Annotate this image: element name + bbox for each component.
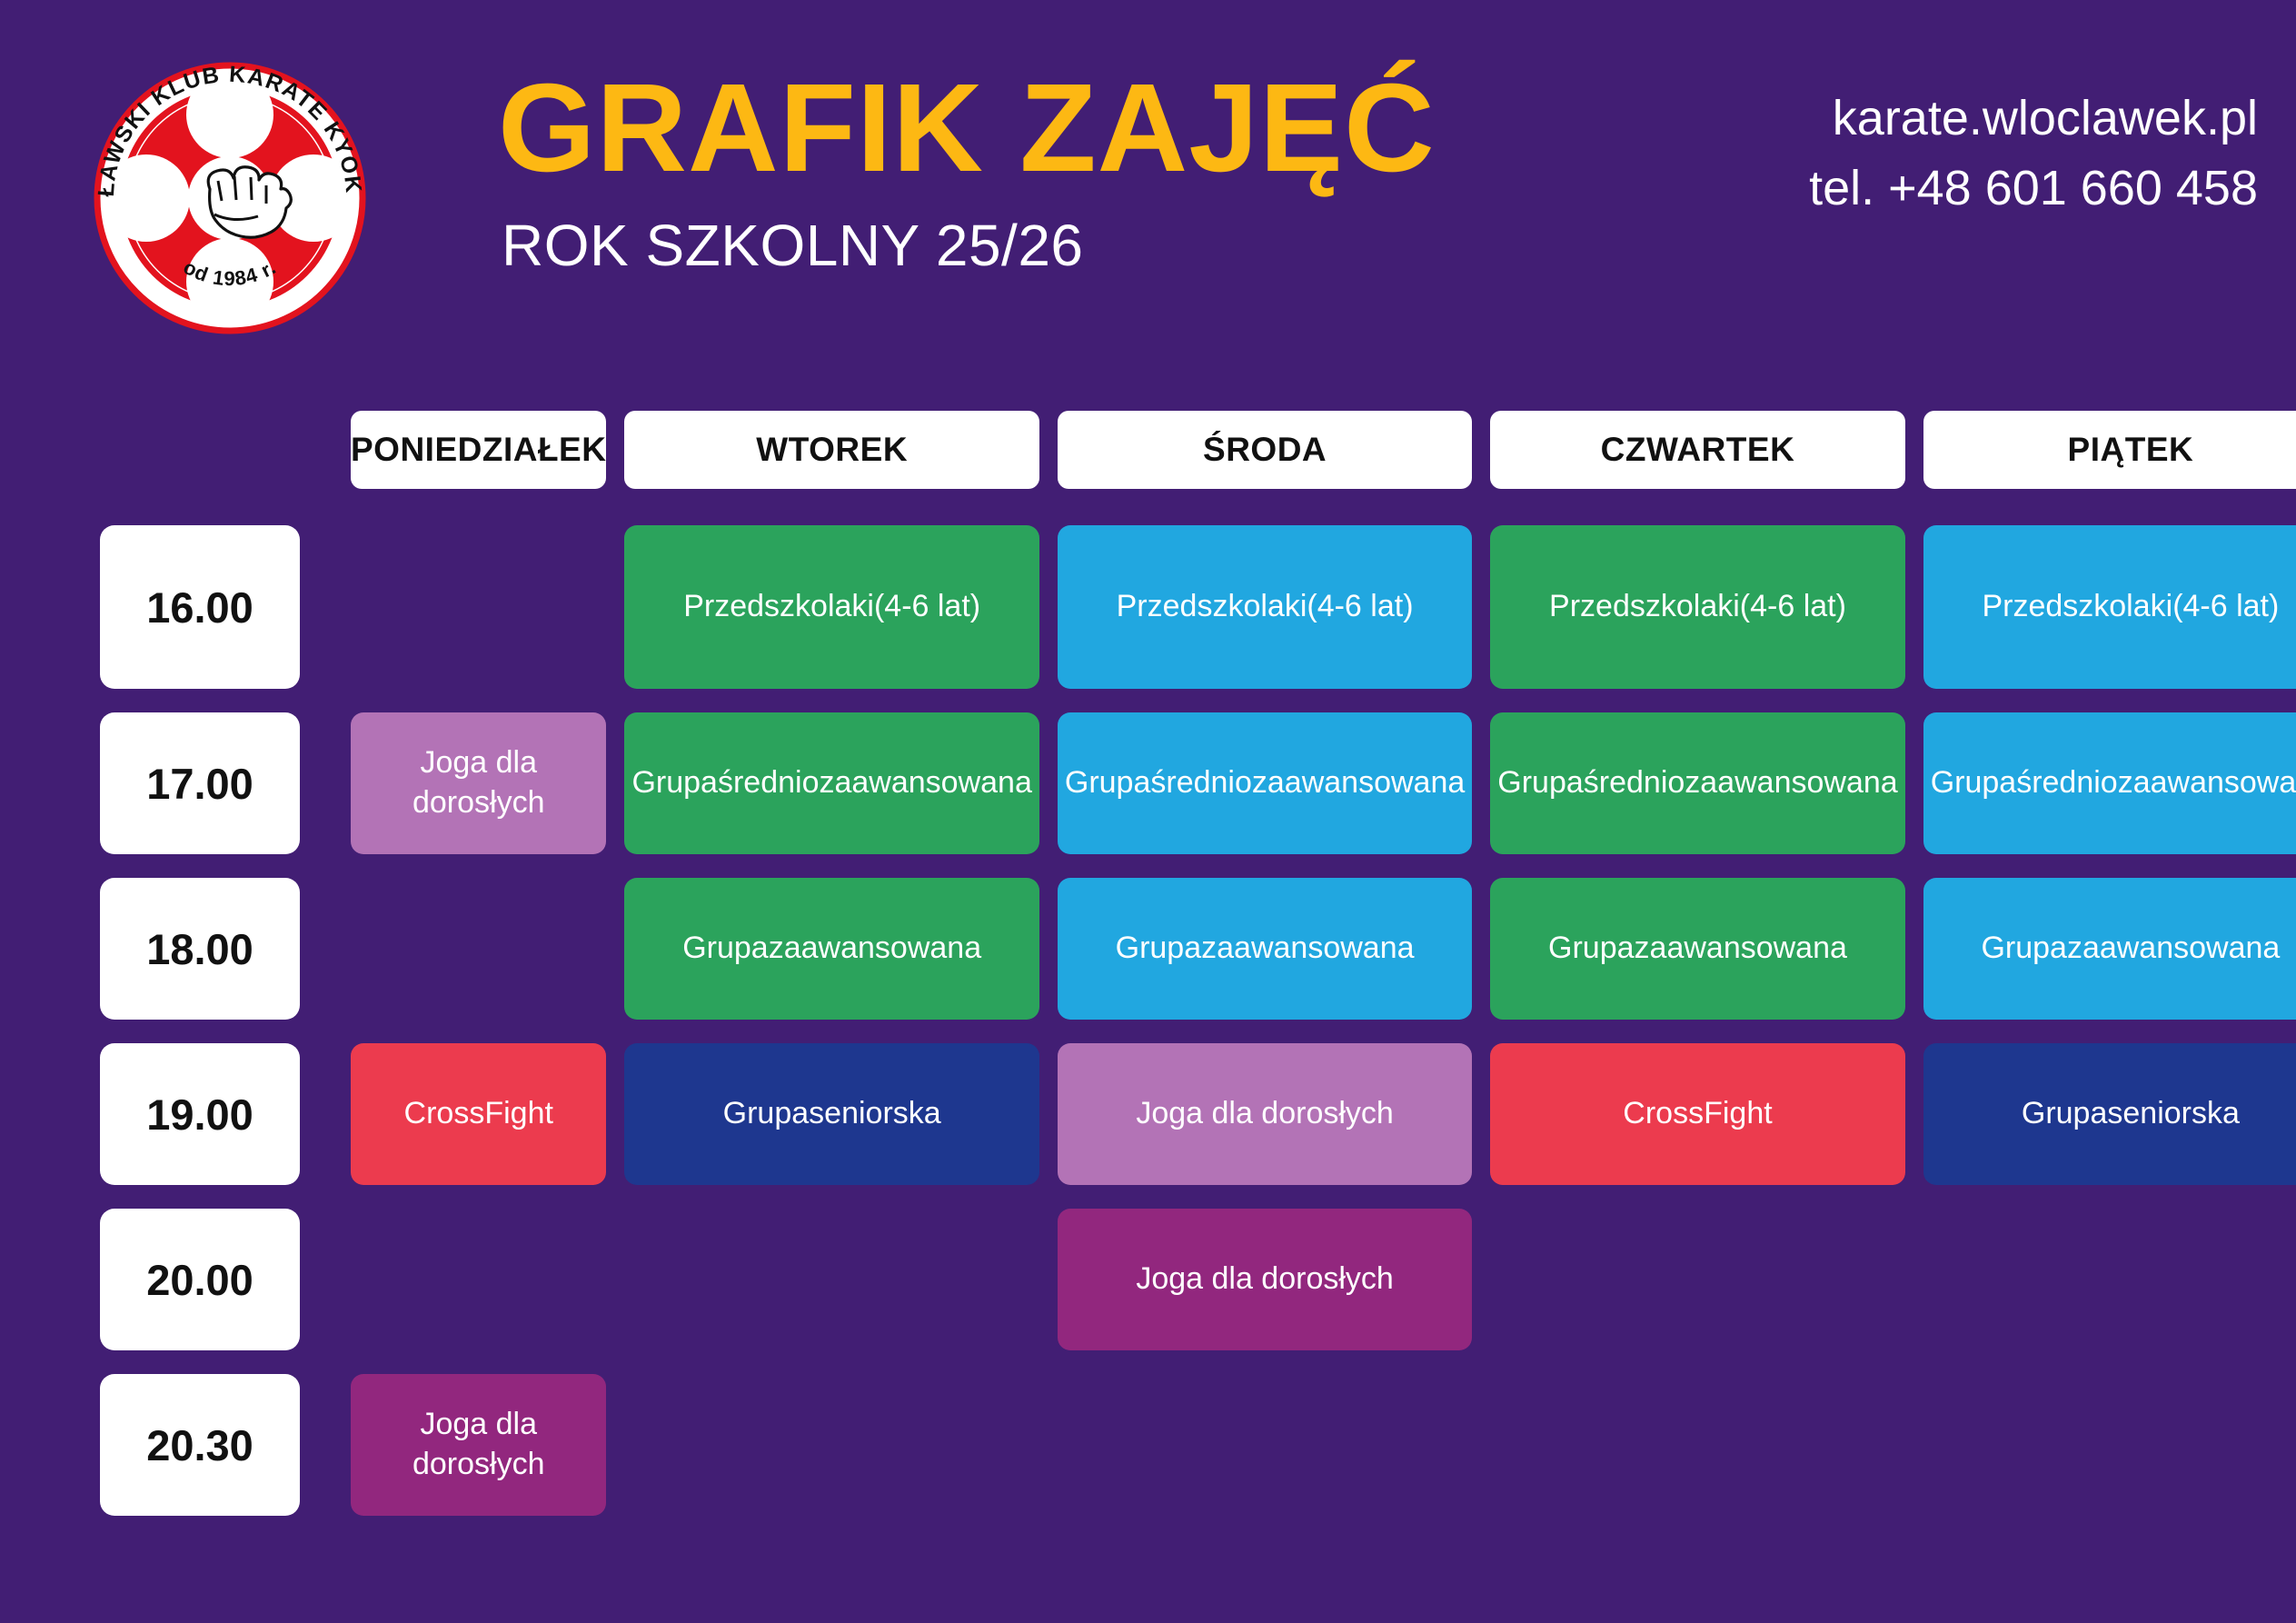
- empty-cell-wtorek-20-30: [624, 1374, 1039, 1516]
- class-cell-wtorek-16-00[interactable]: Przedszkolaki(4-6 lat): [624, 525, 1039, 689]
- class-label-line: CrossFight: [404, 1094, 553, 1134]
- class-label-line: zaawansowana: [2067, 929, 2280, 969]
- class-label-line: zaawansowana: [769, 929, 981, 969]
- class-cell-środa-17-00[interactable]: Grupaśredniozaawansowana: [1058, 712, 1472, 854]
- empty-cell-czwartek-20-00: [1490, 1209, 1904, 1350]
- class-label-line: seniorska: [2107, 1094, 2240, 1134]
- row-gap: [100, 1185, 2296, 1209]
- class-label-line: Grupa: [631, 763, 718, 803]
- time-cell-18-00: 18.00: [100, 878, 300, 1020]
- column-gap: [325, 1043, 342, 1185]
- class-label-line: zaawansowana: [1635, 929, 1847, 969]
- column-gap: [325, 1209, 342, 1350]
- day-header-2: WTOREK: [624, 411, 1039, 489]
- class-label-line: zaawansowana: [1201, 929, 1414, 969]
- time-cell-19-00: 19.00: [100, 1043, 300, 1185]
- class-cell-piątek-17-00[interactable]: Grupaśredniozaawansowana: [1923, 712, 2296, 854]
- page-subtitle: ROK SZKOLNY 25/26: [502, 216, 1436, 274]
- title-block: GRAFIK ZAJĘĆ ROK SZKOLNY 25/26: [498, 65, 1436, 274]
- day-header-5: PIĄTEK: [1923, 411, 2296, 489]
- class-label-line: Joga dla dorosłych: [1136, 1260, 1394, 1299]
- class-cell-piątek-16-00[interactable]: Przedszkolaki(4-6 lat): [1923, 525, 2296, 689]
- class-label-line: Grupa: [723, 1094, 810, 1134]
- class-label-line: Joga dla dorosłych: [358, 743, 599, 822]
- class-label-line: Grupa: [2022, 1094, 2108, 1134]
- grid-corner: [100, 411, 325, 489]
- time-cell-17-00: 17.00: [100, 712, 300, 854]
- class-cell-środa-19-00[interactable]: Joga dla dorosłych: [1058, 1043, 1472, 1185]
- class-cell-środa-20-00[interactable]: Joga dla dorosłych: [1058, 1209, 1472, 1350]
- class-label-line: (4-6 lat): [1740, 587, 1846, 627]
- schedule-grid: PONIEDZIAŁEKWTOREKŚRODACZWARTEKPIĄTEK16.…: [100, 411, 2205, 1516]
- contact-block: karate.wloclawek.pl tel. +48 601 660 458: [1809, 84, 2258, 223]
- empty-cell-czwartek-20-30: [1490, 1374, 1904, 1516]
- empty-cell-piątek-20-30: [1923, 1374, 2296, 1516]
- empty-cell-poniedziałek-20-00: [351, 1209, 606, 1350]
- empty-cell-wtorek-20-00: [624, 1209, 1039, 1350]
- class-cell-czwartek-19-00[interactable]: CrossFight: [1490, 1043, 1904, 1185]
- column-gap: [325, 411, 342, 489]
- column-gap: [325, 525, 342, 689]
- class-cell-czwartek-16-00[interactable]: Przedszkolaki(4-6 lat): [1490, 525, 1904, 689]
- class-label-line: Grupa: [682, 929, 769, 969]
- class-label-line: Grupa: [1931, 763, 2017, 803]
- class-cell-środa-18-00[interactable]: Grupazaawansowana: [1058, 878, 1472, 1020]
- page-title: GRAFIK ZAJĘĆ: [498, 65, 1436, 191]
- class-label-line: Grupa: [1065, 763, 1151, 803]
- class-cell-piątek-18-00[interactable]: Grupazaawansowana: [1923, 878, 2296, 1020]
- class-cell-czwartek-17-00[interactable]: Grupaśredniozaawansowana: [1490, 712, 1904, 854]
- row-gap: [100, 1020, 2296, 1043]
- day-header-1: PONIEDZIAŁEK: [351, 411, 606, 489]
- class-label-line: średniozaawansowana: [1150, 763, 1465, 803]
- empty-cell-poniedziałek-18-00: [351, 878, 606, 1020]
- class-label-line: Przedszkolaki: [1549, 587, 1740, 627]
- class-label-line: seniorska: [809, 1094, 941, 1134]
- class-label-line: (4-6 lat): [2172, 587, 2279, 627]
- class-cell-wtorek-17-00[interactable]: Grupaśredniozaawansowana: [624, 712, 1039, 854]
- schedule-table: PONIEDZIAŁEKWTOREKŚRODACZWARTEKPIĄTEK16.…: [100, 411, 2205, 1516]
- class-label-line: Grupa: [1981, 929, 2067, 969]
- class-label-line: Joga dla dorosłych: [1136, 1094, 1394, 1134]
- phone-number[interactable]: tel. +48 601 660 458: [1809, 154, 2258, 224]
- time-cell-20-30: 20.30: [100, 1374, 300, 1516]
- class-cell-wtorek-19-00[interactable]: Grupaseniorska: [624, 1043, 1039, 1185]
- class-label-line: Joga dla dorosłych: [358, 1405, 599, 1484]
- class-label-line: CrossFight: [1623, 1094, 1772, 1134]
- column-gap: [325, 712, 342, 854]
- time-cell-20-00: 20.00: [100, 1209, 300, 1350]
- club-logo-svg: WŁOCŁAWSKI KLUB KARATE KYOKUSHIN od 1984…: [94, 62, 366, 334]
- row-gap: [100, 489, 2296, 525]
- page-header: WŁOCŁAWSKI KLUB KARATE KYOKUSHIN od 1984…: [0, 0, 2296, 382]
- class-label-line: średniozaawansowana: [1584, 763, 1898, 803]
- column-gap: [325, 878, 342, 1020]
- row-gap: [100, 854, 2296, 878]
- row-gap: [100, 689, 2296, 712]
- time-cell-16-00: 16.00: [100, 525, 300, 689]
- class-label-line: Grupa: [1548, 929, 1635, 969]
- class-label-line: Przedszkolaki: [1982, 587, 2172, 627]
- empty-cell-środa-20-30: [1058, 1374, 1472, 1516]
- class-label-line: średniozaawansowana: [718, 763, 1032, 803]
- class-label-line: średniozaawansowana: [2016, 763, 2296, 803]
- class-cell-poniedziałek-20-30[interactable]: Joga dla dorosłych: [351, 1374, 606, 1516]
- class-cell-wtorek-18-00[interactable]: Grupazaawansowana: [624, 878, 1039, 1020]
- fist-icon: [208, 167, 291, 237]
- class-cell-piątek-19-00[interactable]: Grupaseniorska: [1923, 1043, 2296, 1185]
- day-header-4: CZWARTEK: [1490, 411, 1904, 489]
- class-label-line: Grupa: [1497, 763, 1584, 803]
- club-logo: WŁOCŁAWSKI KLUB KARATE KYOKUSHIN od 1984…: [94, 62, 366, 334]
- class-label-line: (4-6 lat): [874, 587, 980, 627]
- empty-cell-piątek-20-00: [1923, 1209, 2296, 1350]
- class-label-line: Przedszkolaki: [1117, 587, 1307, 627]
- website-link[interactable]: karate.wloclawek.pl: [1809, 84, 2258, 154]
- class-label-line: (4-6 lat): [1307, 587, 1413, 627]
- class-label-line: Przedszkolaki: [683, 587, 874, 627]
- class-cell-czwartek-18-00[interactable]: Grupazaawansowana: [1490, 878, 1904, 1020]
- class-label-line: Grupa: [1116, 929, 1202, 969]
- column-gap: [325, 1374, 342, 1516]
- class-cell-środa-16-00[interactable]: Przedszkolaki(4-6 lat): [1058, 525, 1472, 689]
- row-gap: [100, 1350, 2296, 1374]
- class-cell-poniedziałek-17-00[interactable]: Joga dla dorosłych: [351, 712, 606, 854]
- day-header-3: ŚRODA: [1058, 411, 1472, 489]
- class-cell-poniedziałek-19-00[interactable]: CrossFight: [351, 1043, 606, 1185]
- empty-cell-poniedziałek-16-00: [351, 525, 606, 689]
